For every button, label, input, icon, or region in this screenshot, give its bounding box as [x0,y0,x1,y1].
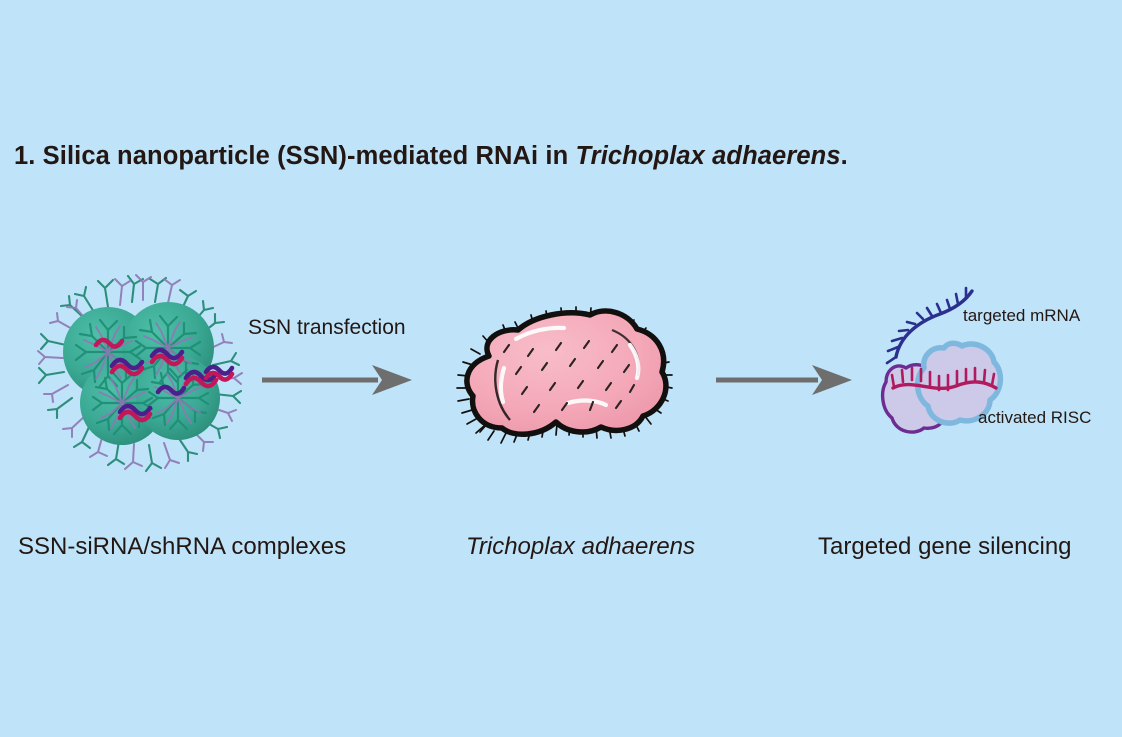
diagram-canvas [0,0,1122,737]
silencing-arrow [716,365,852,395]
trichoplax-organism-icon [457,307,672,443]
figure-root: 1. Silica nanoparticle (SSN)-mediated RN… [0,0,1122,737]
ssn-transfection-arrow [262,365,412,395]
panel-caption-gene-silencing: Targeted gene silencing [818,533,1072,561]
silica-nanoparticle-cluster-icon [38,275,242,471]
panel-caption-trichoplax: Trichoplax adhaerens [466,533,695,561]
panel-caption-ssn-complexes: SSN-siRNA/shRNA complexes [18,533,346,561]
targeted-mrna-label: targeted mRNA [963,306,1080,326]
ssn-transfection-arrow-label: SSN transfection [248,316,406,340]
activated-risc-label: activated RISC [978,408,1091,428]
